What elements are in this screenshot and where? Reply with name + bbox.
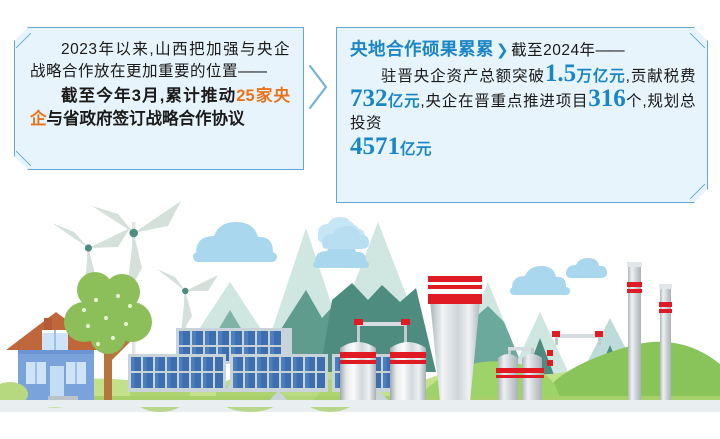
stat-2-unit: 亿元 [388, 93, 421, 110]
infographic-canvas: 2023年以来,山西把加强与央企战略合作放在更加重要的位置—— 截至今年3月,累… [0, 0, 720, 439]
storage-tank [340, 342, 376, 402]
stat-3-value: 316 [588, 85, 626, 112]
right-callout-text: 央地合作硕果累累❯截至2024年—— 驻晋央企资产总额突破1.5万亿元,贡献税费… [336, 31, 708, 161]
title-chevron-icon: ❯ [494, 42, 511, 59]
stat-1-value: 1.5 [545, 60, 576, 87]
stat-4-unit: 亿元 [400, 141, 432, 158]
cloud [193, 222, 277, 262]
left-line-2: 截至今年3月,累计推动25家央企与省政府签订战略合作协议 [30, 85, 290, 132]
smokestack [627, 262, 642, 403]
storage-tank [390, 342, 426, 402]
storage-tank [520, 354, 544, 400]
right-body-text: 驻晋央企资产总额突破1.5万亿元,贡献税费732亿元,央企在晋重点推进项目316… [350, 63, 696, 135]
stat-1-unit: 万亿元 [576, 68, 626, 85]
valve-marker [547, 350, 553, 356]
left-line-2-prefix: 截至今年3月,累计推动 [61, 87, 236, 105]
right-body-2: ,贡献税费 [626, 68, 696, 85]
right-body-1: 驻晋央企资产总额突破 [381, 68, 545, 85]
stat-4-value: 4571 [350, 133, 400, 160]
right-dash: —— [596, 42, 623, 59]
stat-2-value: 732 [350, 85, 388, 112]
smokestack [659, 284, 672, 403]
left-dash-1: —— [238, 63, 265, 80]
left-line-2-suffix: 与省政府签订战略合作协议 [47, 110, 245, 128]
ground-shadow [0, 400, 720, 407]
left-callout-text: 2023年以来,山西把加强与央企战略合作放在更加重要的位置—— 截至今年3月,累… [14, 31, 304, 132]
right-lead: 截至2024年 [511, 42, 595, 59]
right-callout-title: 央地合作硕果累累 [350, 39, 494, 59]
right-last-line: 4571亿元 [350, 136, 696, 161]
cloud [566, 258, 607, 278]
stat-3-unit: 个 [626, 93, 643, 110]
pipe [552, 331, 603, 345]
storage-tank [496, 354, 520, 400]
right-body-3: ,央企在晋重点推进项目 [420, 93, 588, 110]
cloud [510, 266, 570, 295]
valve-marker [547, 360, 553, 366]
chevron-right-icon [305, 62, 331, 117]
